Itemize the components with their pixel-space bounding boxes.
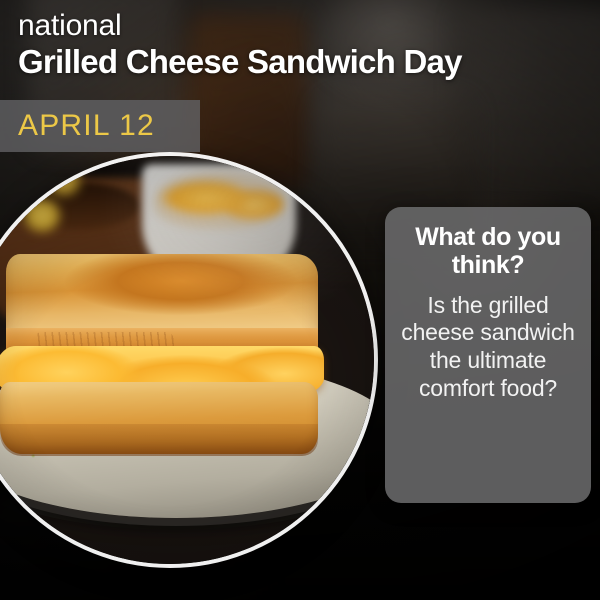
bottom-bread-shadow (0, 424, 318, 456)
sandwich-photo-circle (0, 152, 378, 568)
poster-title: Grilled Cheese Sandwich Day (18, 44, 462, 81)
shredded-cheese (154, 172, 284, 228)
grilled-cheese-sandwich (0, 254, 324, 460)
sandwich-photo (0, 156, 374, 564)
question-panel-heading: What do you think? (395, 223, 581, 280)
poster-header: national Grilled Cheese Sandwich Day (18, 10, 462, 81)
date-label: APRIL 12 (18, 111, 155, 141)
poster-kicker: national (18, 10, 462, 42)
cheese-cubes (0, 162, 86, 248)
question-panel: What do you think? Is the grilled cheese… (385, 207, 591, 503)
date-band: APRIL 12 (0, 100, 200, 152)
question-panel-body: Is the grilled cheese sandwich the ultim… (395, 292, 581, 403)
poster-canvas: national Grilled Cheese Sandwich Day APR… (0, 0, 600, 600)
